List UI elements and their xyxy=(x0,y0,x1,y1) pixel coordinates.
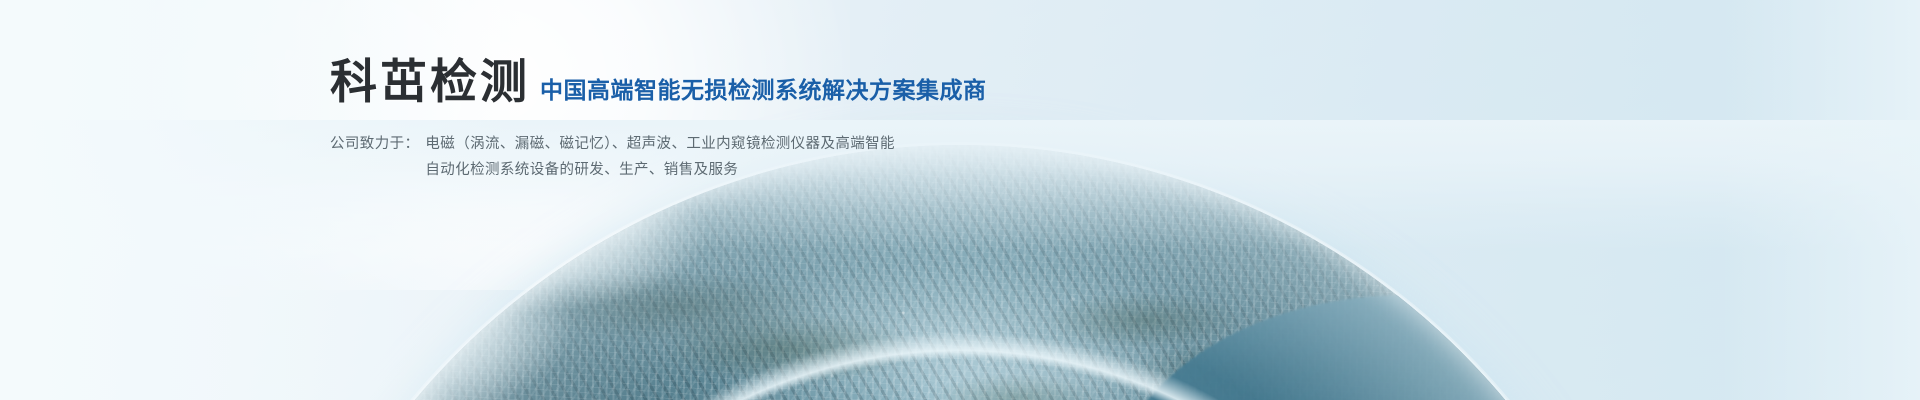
brand-name: 科茁检测 xyxy=(330,58,530,105)
globe-sphere xyxy=(250,145,1670,400)
hero-banner: 科茁检测 中国高端智能无损检测系统解决方案集成商 公司致力于： 电磁（涡流、漏磁… xyxy=(0,0,1920,400)
description-label: 公司致力于： xyxy=(330,131,419,157)
description-line-1: 电磁（涡流、漏磁、磁记忆）、超声波、工业内窥镜检测仪器及高端智能 xyxy=(425,131,895,157)
company-description: 公司致力于： 电磁（涡流、漏磁、磁记忆）、超声波、工业内窥镜检测仪器及高端智能 … xyxy=(330,131,1330,183)
description-body: 电磁（涡流、漏磁、磁记忆）、超声波、工业内窥镜检测仪器及高端智能 自动化检测系统… xyxy=(425,131,895,183)
cloud-bank xyxy=(250,145,930,400)
brand-slogan: 中国高端智能无损检测系统解决方案集成商 xyxy=(540,79,987,105)
title-row: 科茁检测 中国高端智能无损检测系统解决方案集成商 xyxy=(330,58,1330,105)
banner-content: 科茁检测 中国高端智能无损检测系统解决方案集成商 公司致力于： 电磁（涡流、漏磁… xyxy=(330,58,1330,183)
description-line-2: 自动化检测系统设备的研发、生产、销售及服务 xyxy=(425,157,895,183)
right-fade-overlay xyxy=(1720,0,1920,400)
